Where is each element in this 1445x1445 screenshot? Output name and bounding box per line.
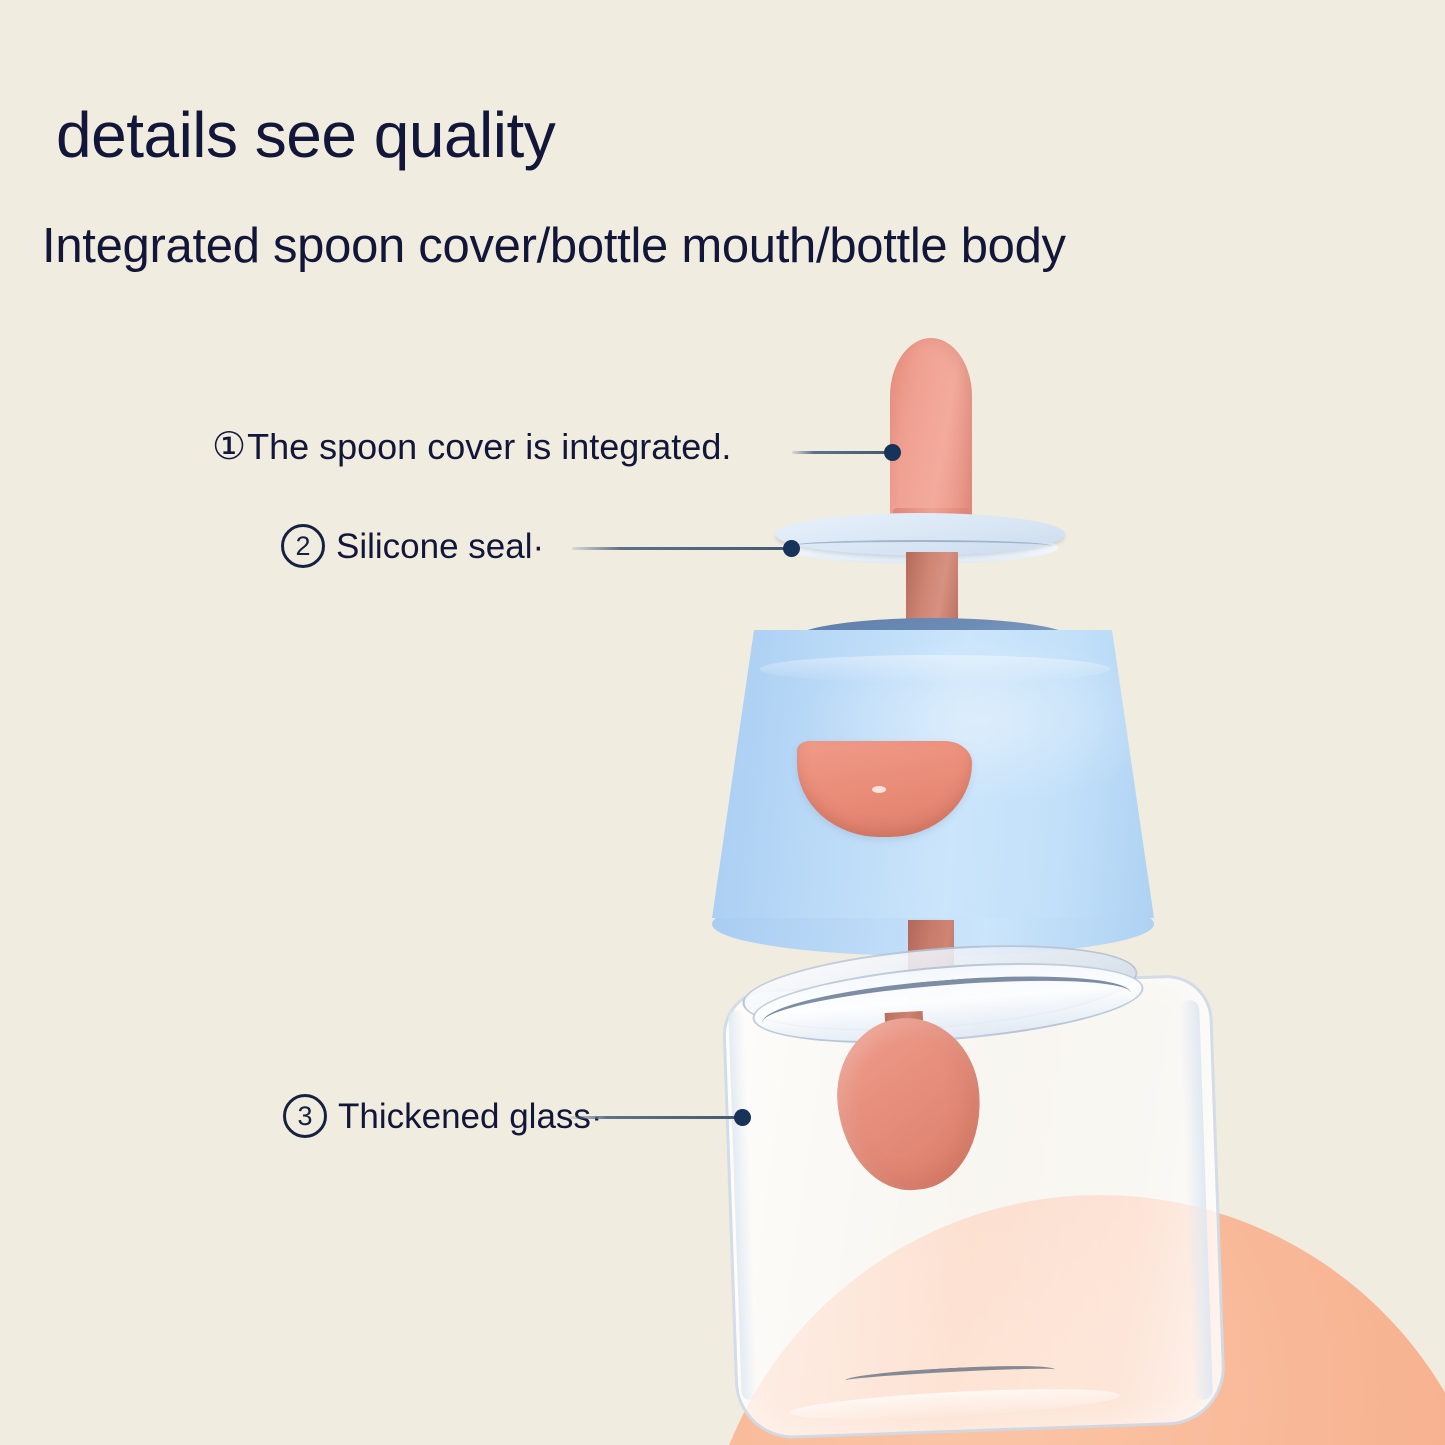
callout-1-label: The spoon cover is integrated.	[247, 429, 731, 465]
callout-3-marker: 3	[283, 1094, 327, 1138]
leader-dot-3	[734, 1109, 751, 1126]
page-subtitle: Integrated spoon cover/bottle mouth/bott…	[42, 218, 1142, 275]
leader-line-1	[792, 451, 892, 454]
glass-jar	[0, 0, 1445, 1445]
product-illustration	[0, 0, 1445, 1445]
callout-thickened-glass: 3 Thickened glass·	[283, 1094, 603, 1138]
callout-1-marker: ①	[212, 428, 246, 466]
callout-2-label: Silicone seal·	[336, 529, 544, 564]
infographic-page: details see quality Integrated spoon cov…	[0, 0, 1445, 1445]
leader-line-3	[569, 1116, 744, 1119]
leader-line-2	[572, 547, 794, 550]
callout-3-label: Thickened glass·	[338, 1099, 603, 1134]
leader-dot-1	[884, 444, 901, 461]
callout-silicone-seal: 2 Silicone seal·	[281, 524, 544, 568]
callout-2-marker: 2	[281, 524, 325, 568]
page-title: details see quality	[56, 103, 555, 167]
leader-dot-2	[783, 540, 800, 557]
callout-spoon-cover: ① The spoon cover is integrated.	[212, 428, 731, 466]
